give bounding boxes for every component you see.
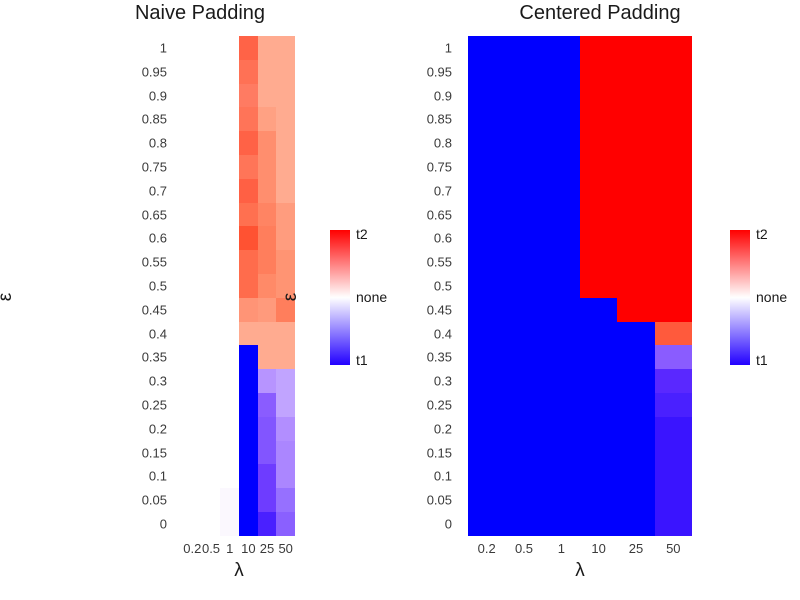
heatmap-cell[interactable] (239, 512, 258, 536)
heatmap-cell[interactable] (505, 488, 542, 512)
y-axis-tick-label: 0.15 (427, 445, 452, 460)
heatmap-row (183, 203, 295, 227)
heatmap-cell[interactable] (580, 155, 617, 179)
heatmap-cell[interactable] (468, 250, 505, 274)
y-axis-tick-label: 0.45 (142, 302, 167, 317)
heatmap-cell[interactable] (183, 322, 202, 346)
heatmap-cell[interactable] (580, 203, 617, 227)
heatmap-cell[interactable] (617, 298, 654, 322)
heatmap-cell[interactable] (202, 60, 221, 84)
heatmap-cell[interactable] (505, 179, 542, 203)
heatmap-cell[interactable] (505, 250, 542, 274)
y-axis-tick-label: 0.75 (427, 159, 452, 174)
heatmap-cell[interactable] (239, 274, 258, 298)
heatmap-row (183, 298, 295, 322)
heatmap-cell[interactable] (655, 203, 692, 227)
heatmap-cell[interactable] (276, 179, 295, 203)
heatmap-cell[interactable] (258, 226, 277, 250)
heatmap-cell[interactable] (655, 84, 692, 108)
heatmap-cell[interactable] (220, 393, 239, 417)
heatmap-row (183, 84, 295, 108)
heatmap-cell[interactable] (239, 131, 258, 155)
heatmap-cell[interactable] (276, 60, 295, 84)
heatmap-row (183, 274, 295, 298)
heatmap-cell[interactable] (468, 107, 505, 131)
heatmap-row (183, 369, 295, 393)
heatmap-cell[interactable] (655, 179, 692, 203)
heatmap-cell[interactable] (239, 393, 258, 417)
heatmap-cell[interactable] (183, 84, 202, 108)
heatmap-cell[interactable] (220, 155, 239, 179)
heatmap-cell[interactable] (655, 441, 692, 465)
heatmap-cell[interactable] (202, 203, 221, 227)
heatmap-cell[interactable] (258, 60, 277, 84)
heatmap-cell[interactable] (543, 203, 580, 227)
heatmap-cell[interactable] (220, 417, 239, 441)
heatmap-cell[interactable] (202, 36, 221, 60)
heatmap-cell[interactable] (580, 60, 617, 84)
heatmap-cell[interactable] (468, 393, 505, 417)
heatmap-cell[interactable] (202, 226, 221, 250)
heatmap-cell[interactable] (543, 322, 580, 346)
heatmap-cell[interactable] (505, 369, 542, 393)
heatmap-cell[interactable] (505, 417, 542, 441)
y-axis-tick-label: 0.7 (434, 183, 452, 198)
heatmap-cell[interactable] (580, 441, 617, 465)
heatmap-cell[interactable] (258, 393, 277, 417)
heatmap-cell[interactable] (543, 488, 580, 512)
heatmap-cell[interactable] (505, 60, 542, 84)
heatmap-cell[interactable] (183, 298, 202, 322)
heatmap-cell[interactable] (543, 36, 580, 60)
heatmap-cell[interactable] (468, 464, 505, 488)
heatmap-cell[interactable] (220, 226, 239, 250)
heatmap-cell[interactable] (655, 131, 692, 155)
heatmap-cell[interactable] (258, 369, 277, 393)
heatmap-row (468, 203, 692, 227)
y-axis-tick-label: 0.45 (427, 302, 452, 317)
heatmap-cell[interactable] (617, 203, 654, 227)
heatmap-cell[interactable] (202, 250, 221, 274)
heatmap-cell[interactable] (183, 36, 202, 60)
heatmap-cell[interactable] (276, 226, 295, 250)
heatmap-cell[interactable] (220, 179, 239, 203)
heatmap-cell[interactable] (617, 322, 654, 346)
heatmap-cell[interactable] (617, 345, 654, 369)
heatmap-cell[interactable] (655, 417, 692, 441)
heatmap-cell[interactable] (468, 179, 505, 203)
heatmap-cell[interactable] (183, 393, 202, 417)
heatmap-cell[interactable] (580, 107, 617, 131)
heatmap-row (183, 36, 295, 60)
heatmap-cell[interactable] (580, 417, 617, 441)
heatmap-cell[interactable] (183, 274, 202, 298)
heatmap-cell[interactable] (505, 131, 542, 155)
heatmap-row (183, 131, 295, 155)
heatmap-cell[interactable] (220, 345, 239, 369)
heatmap-cell[interactable] (183, 179, 202, 203)
heatmap-cell[interactable] (505, 36, 542, 60)
heatmap-cell[interactable] (183, 441, 202, 465)
heatmap-cell[interactable] (220, 512, 239, 536)
heatmap-cell[interactable] (505, 274, 542, 298)
heatmap-row (183, 250, 295, 274)
heatmap-cell[interactable] (220, 203, 239, 227)
heatmap-cell[interactable] (220, 369, 239, 393)
heatmap-cell[interactable] (183, 417, 202, 441)
heatmap-cell[interactable] (543, 60, 580, 84)
heatmap-cell[interactable] (276, 298, 295, 322)
heatmap-cell[interactable] (276, 155, 295, 179)
heatmap-cell[interactable] (543, 441, 580, 465)
heatmap-cell[interactable] (505, 345, 542, 369)
heatmap-cell[interactable] (505, 441, 542, 465)
heatmap-cell[interactable] (543, 84, 580, 108)
heatmap-cell[interactable] (276, 464, 295, 488)
heatmap-cell[interactable] (183, 250, 202, 274)
y-axis-tick-label: 0.75 (142, 159, 167, 174)
y-axis-tick-label: 0.55 (427, 255, 452, 270)
heatmap-cell[interactable] (580, 84, 617, 108)
heatmap-cell[interactable] (202, 274, 221, 298)
heatmap-cell[interactable] (202, 155, 221, 179)
heatmap-cell[interactable] (258, 107, 277, 131)
y-axis-tick-label: 0.05 (142, 493, 167, 508)
y-axis-title-centered: ε (280, 293, 302, 301)
heatmap-cell[interactable] (202, 512, 221, 536)
heatmap-cell[interactable] (543, 250, 580, 274)
heatmap-cell[interactable] (468, 488, 505, 512)
heatmap-cell[interactable] (239, 441, 258, 465)
x-axis-tick-label: 10 (239, 541, 258, 556)
y-axis-tick-label: 0.3 (149, 374, 167, 389)
heatmap-cell[interactable] (617, 417, 654, 441)
y-axis-tick-label: 0 (160, 517, 167, 532)
heatmap-cell[interactable] (543, 274, 580, 298)
heatmap-cell[interactable] (239, 155, 258, 179)
heatmap-cell[interactable] (655, 155, 692, 179)
heatmap-cell[interactable] (239, 464, 258, 488)
x-axis-tick-label: 0.5 (202, 541, 221, 556)
heatmap-cell[interactable] (655, 488, 692, 512)
heatmap-cell[interactable] (276, 369, 295, 393)
heatmap-cell[interactable] (276, 345, 295, 369)
heatmap-cell[interactable] (239, 60, 258, 84)
heatmap-cell[interactable] (220, 464, 239, 488)
heatmap-cell[interactable] (239, 203, 258, 227)
y-axis-tick-label: 0.85 (142, 112, 167, 127)
y-axis-tick-label: 0.55 (142, 255, 167, 270)
heatmap-cell[interactable] (202, 179, 221, 203)
heatmap-cell[interactable] (202, 441, 221, 465)
heatmap-cell[interactable] (655, 464, 692, 488)
heatmap-cell[interactable] (220, 441, 239, 465)
heatmap-cell[interactable] (505, 203, 542, 227)
heatmap-cell[interactable] (655, 226, 692, 250)
y-axis-tick-label: 1 (445, 40, 452, 55)
heatmap-cell[interactable] (543, 369, 580, 393)
y-axis-tick-label: 0.35 (142, 350, 167, 365)
figure-canvas: Naive Padding 10.950.90.850.80.750.70.65… (0, 0, 800, 600)
heatmap-cell[interactable] (468, 369, 505, 393)
heatmap-row (183, 107, 295, 131)
heatmap-cell[interactable] (505, 226, 542, 250)
heatmap-cell[interactable] (655, 298, 692, 322)
heatmap-cell[interactable] (276, 441, 295, 465)
heatmap-cell[interactable] (543, 464, 580, 488)
panel-title-centered: Centered Padding (400, 2, 800, 25)
heatmap-cell[interactable] (617, 107, 654, 131)
heatmap-cell[interactable] (183, 369, 202, 393)
heatmap-cell[interactable] (183, 155, 202, 179)
heatmap-cell[interactable] (202, 322, 221, 346)
heatmap-cell[interactable] (276, 131, 295, 155)
heatmap-cell[interactable] (468, 298, 505, 322)
heatmap-cell[interactable] (655, 393, 692, 417)
heatmap-cell[interactable] (239, 417, 258, 441)
heatmap-cell[interactable] (655, 345, 692, 369)
heatmap-cell[interactable] (468, 322, 505, 346)
heatmap-cell[interactable] (468, 417, 505, 441)
heatmap-cell[interactable] (617, 155, 654, 179)
heatmap-row (183, 464, 295, 488)
heatmap-cell[interactable] (655, 36, 692, 60)
heatmap-cell[interactable] (580, 274, 617, 298)
heatmap-cell[interactable] (258, 464, 277, 488)
heatmap-cell[interactable] (580, 179, 617, 203)
heatmap-cell[interactable] (258, 345, 277, 369)
heatmap-cell[interactable] (239, 107, 258, 131)
heatmap-cell[interactable] (617, 464, 654, 488)
heatmap-cell[interactable] (505, 512, 542, 536)
heatmap-cell[interactable] (543, 107, 580, 131)
heatmap-cell[interactable] (258, 298, 277, 322)
y-axis-tick-label: 0.25 (142, 398, 167, 413)
heatmap-cell[interactable] (276, 250, 295, 274)
heatmap-cell[interactable] (580, 345, 617, 369)
heatmap-cell[interactable] (617, 84, 654, 108)
heatmap-cell[interactable] (258, 417, 277, 441)
heatmap-cell[interactable] (617, 179, 654, 203)
heatmap-cell[interactable] (220, 322, 239, 346)
heatmap-cell[interactable] (543, 512, 580, 536)
heatmap-centered[interactable] (468, 36, 692, 536)
heatmap-cell[interactable] (239, 322, 258, 346)
heatmap-cell[interactable] (220, 488, 239, 512)
heatmap-cell[interactable] (655, 250, 692, 274)
heatmap-cell[interactable] (580, 512, 617, 536)
heatmap-cell[interactable] (183, 226, 202, 250)
heatmap-cell[interactable] (543, 155, 580, 179)
heatmap-row (183, 393, 295, 417)
heatmap-cell[interactable] (258, 84, 277, 108)
heatmap-row (468, 464, 692, 488)
heatmap-cell[interactable] (258, 512, 277, 536)
heatmap-cell[interactable] (543, 298, 580, 322)
heatmap-cell[interactable] (183, 512, 202, 536)
heatmap-cell[interactable] (220, 84, 239, 108)
heatmap-row (183, 345, 295, 369)
heatmap-cell[interactable] (220, 107, 239, 131)
heatmap-cell[interactable] (258, 131, 277, 155)
heatmap-cell[interactable] (220, 274, 239, 298)
y-axis-tick-label: 0.6 (434, 231, 452, 246)
heatmap-cell[interactable] (617, 131, 654, 155)
heatmap-cell[interactable] (580, 298, 617, 322)
y-axis-tick-label: 1 (160, 40, 167, 55)
heatmap-cell[interactable] (505, 322, 542, 346)
heatmap-cell[interactable] (220, 298, 239, 322)
heatmap-cell[interactable] (505, 393, 542, 417)
heatmap-cell[interactable] (468, 36, 505, 60)
x-axis-ticks-centered: 0.20.51102550 (468, 541, 692, 556)
heatmap-cell[interactable] (276, 512, 295, 536)
heatmap-cell[interactable] (580, 250, 617, 274)
heatmap-cell[interactable] (617, 274, 654, 298)
heatmap-cell[interactable] (468, 274, 505, 298)
heatmap-cell[interactable] (258, 203, 277, 227)
heatmap-cell[interactable] (276, 488, 295, 512)
heatmap-cell[interactable] (655, 107, 692, 131)
heatmap-cell[interactable] (239, 250, 258, 274)
heatmap-cell[interactable] (468, 345, 505, 369)
heatmap-cell[interactable] (258, 36, 277, 60)
heatmap-cell[interactable] (276, 203, 295, 227)
heatmap-cell[interactable] (276, 393, 295, 417)
heatmap-cell[interactable] (655, 512, 692, 536)
heatmap-cell[interactable] (580, 36, 617, 60)
heatmap-cell[interactable] (202, 345, 221, 369)
heatmap-cell[interactable] (468, 512, 505, 536)
heatmap-cell[interactable] (543, 393, 580, 417)
heatmap-cell[interactable] (617, 488, 654, 512)
heatmap-cell[interactable] (220, 36, 239, 60)
heatmap-cell[interactable] (505, 155, 542, 179)
heatmap-naive[interactable] (183, 36, 295, 536)
heatmap-cell[interactable] (202, 84, 221, 108)
heatmap-cell[interactable] (505, 464, 542, 488)
heatmap-cell[interactable] (276, 107, 295, 131)
heatmap-cell[interactable] (505, 84, 542, 108)
heatmap-cell[interactable] (202, 464, 221, 488)
heatmap-cell[interactable] (655, 60, 692, 84)
heatmap-cell[interactable] (580, 488, 617, 512)
heatmap-cell[interactable] (258, 250, 277, 274)
heatmap-cell[interactable] (580, 393, 617, 417)
heatmap-cell[interactable] (468, 441, 505, 465)
heatmap-cell[interactable] (543, 345, 580, 369)
heatmap-cell[interactable] (655, 322, 692, 346)
heatmap-cell[interactable] (258, 488, 277, 512)
heatmap-row (183, 512, 295, 536)
heatmap-cell[interactable] (239, 84, 258, 108)
heatmap-cell[interactable] (276, 36, 295, 60)
heatmap-cell[interactable] (543, 226, 580, 250)
heatmap-cell[interactable] (183, 488, 202, 512)
heatmap-row (183, 155, 295, 179)
heatmap-cell[interactable] (655, 274, 692, 298)
x-axis-title-centered: λ (468, 560, 692, 582)
heatmap-cell[interactable] (183, 60, 202, 84)
heatmap-cell[interactable] (617, 512, 654, 536)
y-axis-tick-label: 0.65 (142, 207, 167, 222)
heatmap-cell[interactable] (258, 441, 277, 465)
heatmap-cell[interactable] (580, 226, 617, 250)
heatmap-cell[interactable] (617, 369, 654, 393)
y-axis-tick-label: 0.95 (427, 64, 452, 79)
heatmap-cell[interactable] (239, 488, 258, 512)
heatmap-cell[interactable] (239, 369, 258, 393)
heatmap-cell[interactable] (617, 36, 654, 60)
heatmap-cell[interactable] (580, 322, 617, 346)
heatmap-cell[interactable] (276, 84, 295, 108)
heatmap-cell[interactable] (276, 417, 295, 441)
heatmap-cell[interactable] (505, 298, 542, 322)
heatmap-cell[interactable] (468, 60, 505, 84)
heatmap-cell[interactable] (655, 369, 692, 393)
heatmap-row (468, 512, 692, 536)
heatmap-cell[interactable] (202, 107, 221, 131)
y-axis-tick-label: 0.8 (434, 136, 452, 151)
heatmap-cell[interactable] (468, 155, 505, 179)
heatmap-cell[interactable] (239, 298, 258, 322)
heatmap-cell[interactable] (468, 203, 505, 227)
heatmap-cell[interactable] (183, 345, 202, 369)
heatmap-cell[interactable] (617, 441, 654, 465)
heatmap-cell[interactable] (239, 345, 258, 369)
heatmap-cell[interactable] (617, 226, 654, 250)
heatmap-cell[interactable] (580, 464, 617, 488)
heatmap-cell[interactable] (220, 250, 239, 274)
heatmap-cell[interactable] (239, 226, 258, 250)
heatmap-cell[interactable] (505, 107, 542, 131)
heatmap-cell[interactable] (202, 488, 221, 512)
heatmap-cell[interactable] (183, 464, 202, 488)
heatmap-cell[interactable] (202, 298, 221, 322)
heatmap-cell[interactable] (183, 203, 202, 227)
heatmap-cell[interactable] (239, 36, 258, 60)
heatmap-cell[interactable] (543, 417, 580, 441)
heatmap-cell[interactable] (276, 322, 295, 346)
heatmap-cell[interactable] (258, 274, 277, 298)
heatmap-cell[interactable] (202, 131, 221, 155)
heatmap-cell[interactable] (239, 179, 258, 203)
heatmap-cell[interactable] (258, 322, 277, 346)
heatmap-row (468, 250, 692, 274)
heatmap-cell[interactable] (220, 60, 239, 84)
heatmap-cell[interactable] (468, 131, 505, 155)
heatmap-cell[interactable] (220, 131, 239, 155)
heatmap-cell[interactable] (543, 179, 580, 203)
colorbar-label-none-centered: none (756, 289, 787, 305)
heatmap-cell[interactable] (468, 84, 505, 108)
heatmap-cell[interactable] (202, 417, 221, 441)
heatmap-cell[interactable] (202, 393, 221, 417)
heatmap-cell[interactable] (183, 131, 202, 155)
heatmap-cell[interactable] (617, 60, 654, 84)
heatmap-cell[interactable] (580, 131, 617, 155)
heatmap-cell[interactable] (543, 131, 580, 155)
heatmap-cell[interactable] (183, 107, 202, 131)
heatmap-cell[interactable] (580, 369, 617, 393)
heatmap-row (468, 155, 692, 179)
heatmap-cell[interactable] (202, 369, 221, 393)
heatmap-cell[interactable] (617, 393, 654, 417)
heatmap-cell[interactable] (617, 250, 654, 274)
heatmap-cell[interactable] (468, 226, 505, 250)
heatmap-cell[interactable] (258, 155, 277, 179)
heatmap-cell[interactable] (258, 179, 277, 203)
